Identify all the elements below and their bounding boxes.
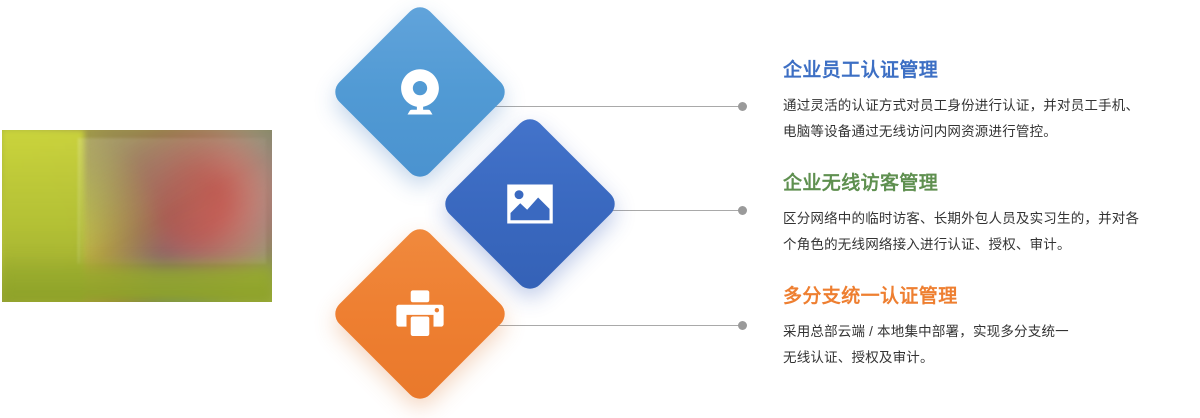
printer-icon bbox=[393, 287, 447, 341]
feature-title-2: 企业无线访客管理 bbox=[783, 173, 1193, 196]
feature-body-2-line-1: 区分网络中的临时访客、长期外包人员及实习生的，并对各 bbox=[783, 206, 1193, 232]
connector-line-1 bbox=[492, 106, 742, 107]
free-wifi-photo: FREE WIFI bbox=[2, 130, 272, 302]
feature-body-1-line-1: 通过灵活的认证方式对员工身份进行认证，并对员工手机、 bbox=[783, 93, 1193, 119]
diamond-node-2[interactable] bbox=[439, 113, 620, 294]
feature-title-3: 多分支统一认证管理 bbox=[783, 286, 1193, 309]
feature-body-1: 通过灵活的认证方式对员工身份进行认证，并对员工手机、 电脑等设备通过无线访问内网… bbox=[783, 93, 1193, 145]
feature-diagram: FREE WIFI bbox=[0, 0, 1200, 418]
feature-title-1: 企业员工认证管理 bbox=[783, 60, 1193, 83]
feature-body-1-line-2: 电脑等设备通过无线访问内网资源进行管控。 bbox=[783, 119, 1193, 145]
connector-line-3 bbox=[492, 325, 742, 326]
connector-dot-2 bbox=[738, 206, 747, 215]
feature-body-3-line-2: 无线认证、授权及审计。 bbox=[783, 345, 1193, 371]
webcam-icon bbox=[393, 65, 447, 119]
photo-bottom-band bbox=[2, 256, 272, 302]
feature-body-3-line-1: 采用总部云端 / 本地集中部署，实现多分支统一 bbox=[783, 319, 1193, 345]
feature-block-3: 多分支统一认证管理 采用总部云端 / 本地集中部署，实现多分支统一 无线认证、授… bbox=[783, 286, 1193, 371]
diamond-node-3[interactable] bbox=[329, 223, 510, 404]
feature-body-2: 区分网络中的临时访客、长期外包人员及实习生的，并对各 个角色的无线网络接入进行认… bbox=[783, 206, 1193, 258]
image-icon bbox=[504, 178, 556, 230]
feature-body-3: 采用总部云端 / 本地集中部署，实现多分支统一 无线认证、授权及审计。 bbox=[783, 319, 1193, 371]
connector-dot-3 bbox=[738, 321, 747, 330]
feature-body-2-line-2: 个角色的无线网络接入进行认证、授权、审计。 bbox=[783, 232, 1193, 258]
photo-glass-reflection bbox=[78, 138, 266, 264]
feature-block-1: 企业员工认证管理 通过灵活的认证方式对员工身份进行认证，并对员工手机、 电脑等设… bbox=[783, 60, 1193, 145]
connector-dot-1 bbox=[738, 102, 747, 111]
feature-block-2: 企业无线访客管理 区分网络中的临时访客、长期外包人员及实习生的，并对各 个角色的… bbox=[783, 173, 1193, 258]
connector-line-2 bbox=[602, 210, 742, 211]
diamond-node-1[interactable] bbox=[329, 1, 510, 182]
